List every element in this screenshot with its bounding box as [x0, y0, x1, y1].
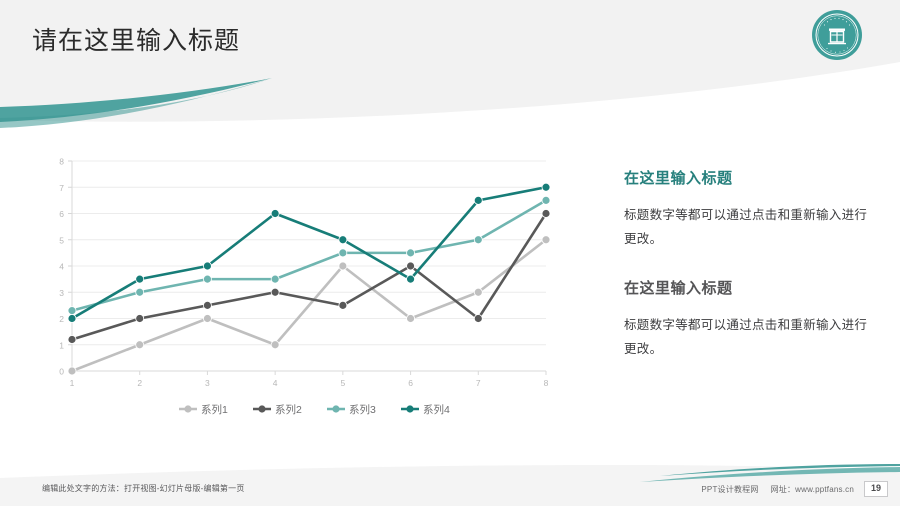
- svg-text:2: 2: [137, 378, 142, 388]
- footer-note: 编辑此处文字的方法：打开视图-幻灯片母版-编辑第一页: [42, 483, 245, 494]
- footer-url-value: www.pptfans.cn: [795, 485, 854, 494]
- page-number-badge: 19: [864, 481, 888, 497]
- svg-text:8: 8: [59, 157, 64, 167]
- svg-text:6: 6: [59, 209, 64, 219]
- header-decoration: [0, 0, 900, 135]
- footer-credit: PPT设计教程网: [701, 484, 758, 495]
- svg-text:4: 4: [273, 378, 278, 388]
- page-title: 请在这里输入标题: [32, 26, 240, 56]
- svg-text:4: 4: [59, 262, 64, 272]
- panel-body-2: 标题数字等都可以通过点击和重新输入进行更改。: [624, 313, 868, 362]
- svg-text:1: 1: [59, 340, 64, 350]
- svg-text:3: 3: [205, 378, 210, 388]
- panel-heading-2: 在这里输入标题: [624, 278, 868, 299]
- svg-text:5: 5: [340, 378, 345, 388]
- svg-text:7: 7: [476, 378, 481, 388]
- svg-text:系列1: 系列1: [201, 403, 228, 415]
- svg-text:1: 1: [70, 378, 75, 388]
- panel-heading-1: 在这里输入标题: [624, 168, 868, 189]
- svg-text:系列2: 系列2: [275, 403, 302, 415]
- svg-text:系列4: 系列4: [423, 403, 450, 415]
- footer-url-label: 网址：: [771, 485, 796, 494]
- panel-body-1: 标题数字等都可以通过点击和重新输入进行更改。: [624, 203, 868, 252]
- svg-text:6: 6: [408, 378, 413, 388]
- footer-credit-group: PPT设计教程网 网址：www.pptfans.cn: [701, 484, 854, 495]
- svg-text:5: 5: [59, 235, 64, 245]
- svg-text:系列3: 系列3: [349, 403, 376, 415]
- footer-url: 网址：www.pptfans.cn: [771, 484, 854, 495]
- svg-text:8: 8: [544, 378, 549, 388]
- university-seal-logo: [810, 8, 864, 62]
- line-chart: 01234567812345678系列1系列2系列3系列4: [46, 155, 566, 415]
- svg-text:2: 2: [59, 314, 64, 324]
- svg-text:7: 7: [59, 183, 64, 193]
- text-panel: 在这里输入标题 标题数字等都可以通过点击和重新输入进行更改。 在这里输入标题 标…: [624, 168, 868, 388]
- svg-text:0: 0: [59, 367, 64, 377]
- svg-text:3: 3: [59, 288, 64, 298]
